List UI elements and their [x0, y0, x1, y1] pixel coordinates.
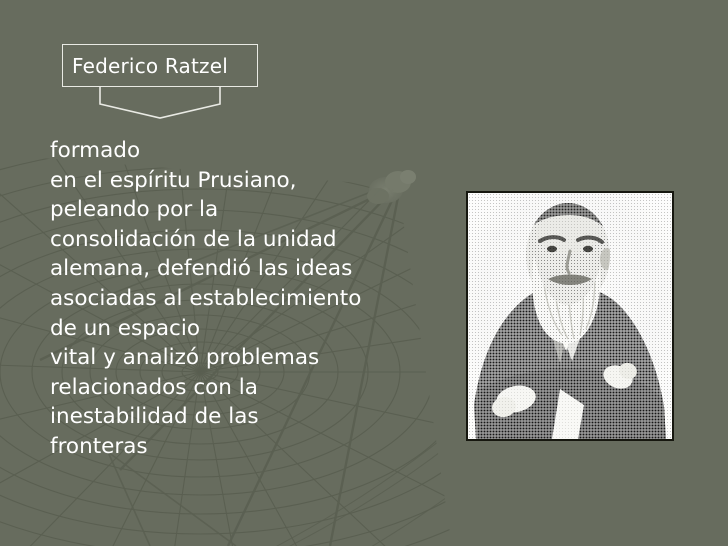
portrait-photo-frame	[466, 191, 674, 441]
body-text-block: formado en el espíritu Prusiano, peleand…	[50, 136, 450, 462]
presentation-slide: Federico Ratzel formado en el espíritu P…	[0, 0, 728, 546]
body-line: relacionados con la	[50, 373, 450, 403]
body-line: consolidación de la unidad	[50, 225, 450, 255]
body-line: vital y analizó problemas	[50, 343, 450, 373]
body-line: formado	[50, 136, 450, 166]
body-line: peleando por la	[50, 195, 450, 225]
page-title: Federico Ratzel	[72, 52, 228, 80]
body-line: inestabilidad de las	[50, 402, 450, 432]
body-line: asociadas al establecimiento	[50, 284, 450, 314]
body-line: alemana, defendió las ideas	[50, 254, 450, 284]
body-line: en el espíritu Prusiano,	[50, 166, 450, 196]
callout-tail-chevron-icon	[62, 86, 258, 120]
body-line: de un espacio	[50, 314, 450, 344]
body-line: fronteras	[50, 432, 450, 462]
title-callout-box: Federico Ratzel	[62, 44, 258, 87]
portrait-photo	[468, 193, 672, 439]
